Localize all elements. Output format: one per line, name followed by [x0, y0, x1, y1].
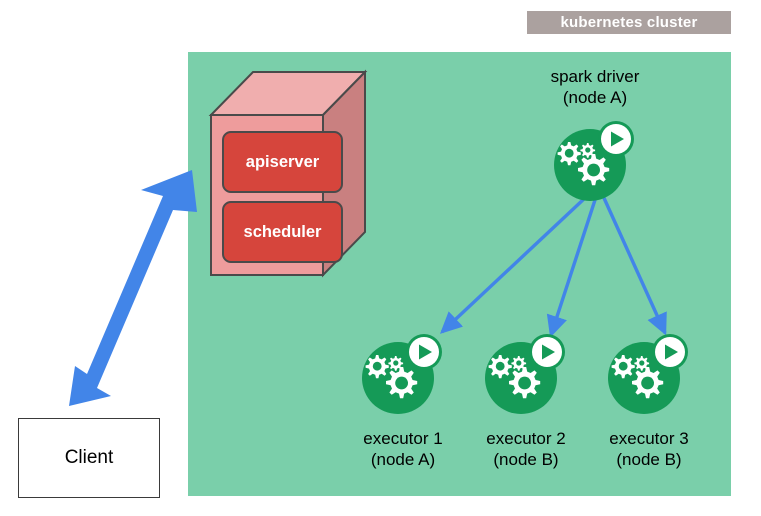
- executor-3-gear-medium: [612, 355, 635, 378]
- executor-3-caption-line2: (node B): [579, 449, 719, 470]
- executor-1-gear-large: [386, 367, 417, 398]
- spark-driver-caption: spark driver (node A): [520, 66, 670, 108]
- executor-1-gear-small: [388, 356, 403, 371]
- apiserver-component: apiserver: [222, 131, 343, 193]
- apiserver-label: apiserver: [246, 153, 319, 172]
- executor-2-gear-medium: [489, 355, 512, 378]
- executor-3-node: [605, 331, 691, 417]
- spark-driver-caption-line2: (node A): [520, 87, 670, 108]
- executor-1-node: [359, 331, 445, 417]
- scheduler-component: scheduler: [222, 201, 343, 263]
- executor-3-gear-small: [634, 356, 649, 371]
- executor-3-caption: executor 3 (node B): [579, 428, 719, 470]
- link-driver-executor-3: [604, 198, 665, 333]
- driver-gear-small: [580, 143, 595, 158]
- spark-driver-caption-line1: spark driver: [520, 66, 670, 87]
- diagram-canvas: kubernetes cluster Client spark-submit: [0, 0, 761, 516]
- driver-gear-medium: [558, 142, 581, 165]
- executor-3-caption-line1: executor 3: [579, 428, 719, 449]
- executor-2-caption-line2: (node B): [456, 449, 596, 470]
- executor-1-gear-medium: [366, 355, 389, 378]
- executor-2-gear-small: [511, 356, 526, 371]
- spark-driver-node: [551, 118, 637, 204]
- executor-2-caption-line1: executor 2: [456, 428, 596, 449]
- executor-2-gear-large: [509, 367, 540, 398]
- executor-1-caption: executor 1 (node A): [333, 428, 473, 470]
- link-driver-executor-2: [551, 200, 595, 335]
- scheduler-label: scheduler: [244, 223, 322, 242]
- executor-2-caption: executor 2 (node B): [456, 428, 596, 470]
- link-driver-executor-1: [442, 198, 585, 332]
- executor-2-node: [482, 331, 568, 417]
- executor-3-gear-large: [632, 367, 663, 398]
- executor-1-caption-line1: executor 1: [333, 428, 473, 449]
- executor-1-caption-line2: (node A): [333, 449, 473, 470]
- driver-gear-large: [578, 154, 609, 185]
